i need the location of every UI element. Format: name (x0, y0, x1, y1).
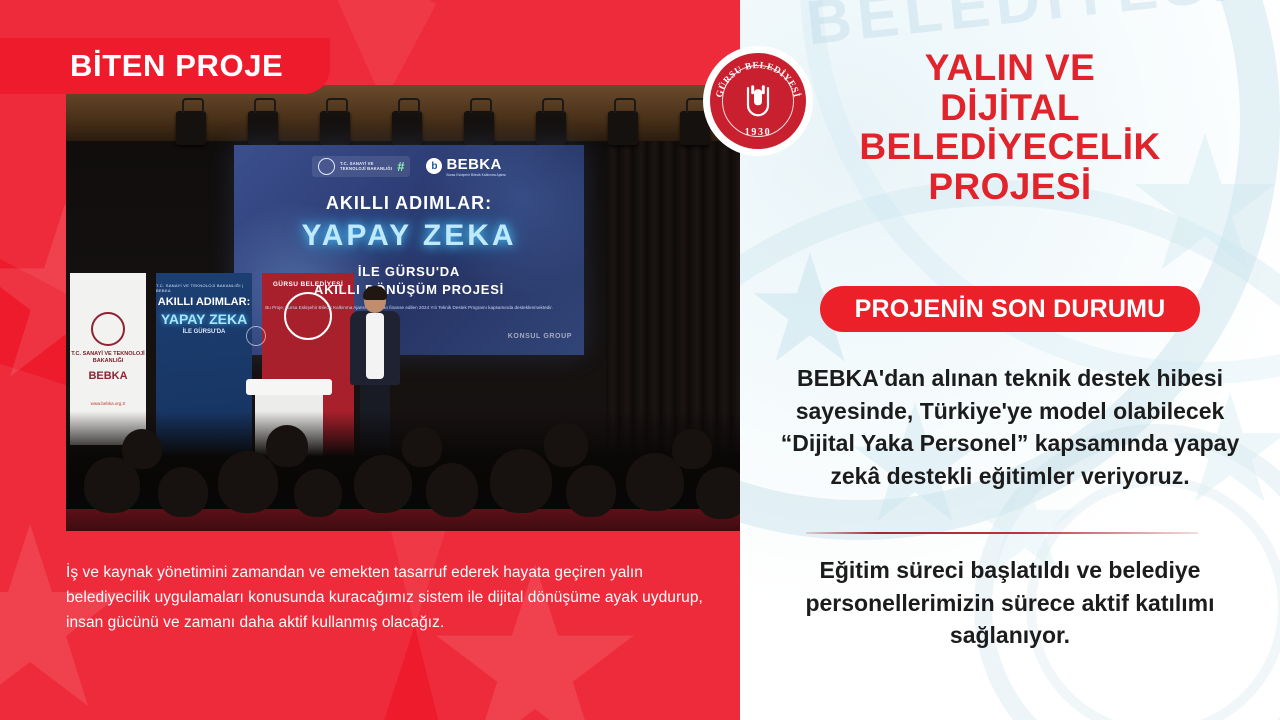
seal-year: 1930 (710, 127, 806, 138)
banner-ministry-text: T.C. SANAYİ VE TEKNOLOJİ BAKANLIĞI (70, 351, 146, 365)
page-title: YALIN VE DİJİTAL BELEDİYECELİK PROJESİ (770, 48, 1250, 206)
page-title-line-1: YALIN VE (770, 48, 1250, 88)
left-red-panel: T.C. SANAYİ VE TEKNOLOJİ BAKANLIĞI # b B… (0, 0, 740, 720)
screen-subtitle: İLE GÜRSU'DA AKILLI DÖNÜŞÜM PROJESİ (234, 263, 584, 298)
municipality-seal: GÜRSU BELEDİYESİ 1930 (703, 46, 813, 156)
screen-logo-row: T.C. SANAYİ VE TEKNOLOJİ BAKANLIĞI # b B… (234, 153, 584, 179)
ministry-seal-icon (91, 312, 125, 346)
screen-glow-title: YAPAY ZEKA (234, 219, 584, 253)
status-badge-label: BİTEN PROJE (70, 48, 283, 84)
audience (66, 411, 740, 531)
banner-project-line-2: YAPAY ZEKA (161, 312, 247, 327)
bebka-name: BEBKA (446, 156, 506, 173)
screen-footer: KONSUL GROUP (246, 325, 572, 347)
left-caption-text: İş ve kaynak yönetimini zamandan ve emek… (66, 560, 716, 635)
banner-bebka-url: www.bebka.org.tr (91, 401, 126, 406)
ministry-logo: T.C. SANAYİ VE TEKNOLOJİ BAKANLIĞI # (312, 156, 410, 177)
screen-subtitle-line-1: İLE GÜRSU'DA (234, 263, 584, 281)
seal-emblem-icon (743, 81, 773, 119)
bebka-subtitle: Bursa Eskişehir Bilecik Kalkınma Ajansı (446, 173, 506, 177)
ministry-line-2: TEKNOLOJİ BAKANLIĞI (340, 166, 392, 171)
banner-project-line-3: İLE GÜRSU'DA (183, 329, 226, 336)
svg-text:GÜRSU BELEDİYESİ: GÜRSU BELEDİYESİ (715, 61, 803, 99)
bebka-logo: b BEBKA Bursa Eskişehir Bilecik Kalkınma… (426, 156, 506, 177)
event-photo: T.C. SANAYİ VE TEKNOLOJİ BAKANLIĞI # b B… (66, 85, 740, 531)
bebka-mark-icon: b (426, 158, 442, 174)
municipality-seal-inner: GÜRSU BELEDİYESİ 1930 (710, 53, 806, 149)
status-paragraph-primary: BEBKA'dan alınan teknik destek hibesi sa… (770, 362, 1250, 493)
poster-stage: T.C. SANAYİ VE TEKNOLOJİ BAKANLIĞI # b B… (0, 0, 1280, 720)
section-badge-label: PROJENİN SON DURUMU (855, 295, 1166, 324)
screen-headline: AKILLI ADIMLAR: (234, 193, 584, 214)
screen-fine-print: Bu Proje, Bursa Eskişehir Bilecik Kalkın… (234, 305, 584, 312)
page-title-line-4: PROJESİ (770, 167, 1250, 207)
partner-logo: KONSUL GROUP (508, 333, 572, 340)
section-divider (806, 532, 1198, 534)
page-title-line-3: BELEDİYECELİK (770, 127, 1250, 167)
status-badge-biten-proje: BİTEN PROJE (0, 38, 330, 94)
section-badge-project-status: PROJENİN SON DURUMU (820, 286, 1200, 332)
page-title-line-2: DİJİTAL (770, 88, 1250, 128)
status-paragraph-secondary: Eğitim süreci başlatıldı ve belediye per… (770, 554, 1250, 652)
ministry-seal-icon (318, 158, 335, 175)
hashtag-icon: # (397, 159, 404, 174)
banner-bebka-brand: BEBKA (88, 370, 127, 382)
right-info-panel: BELEDİYESİ YALIN VE DİJİTAL BELEDİYECELİ… (740, 0, 1280, 720)
footer-seal-icon (246, 326, 266, 346)
screen-subtitle-line-2: AKILLI DÖNÜŞÜM PROJESİ (234, 281, 584, 299)
